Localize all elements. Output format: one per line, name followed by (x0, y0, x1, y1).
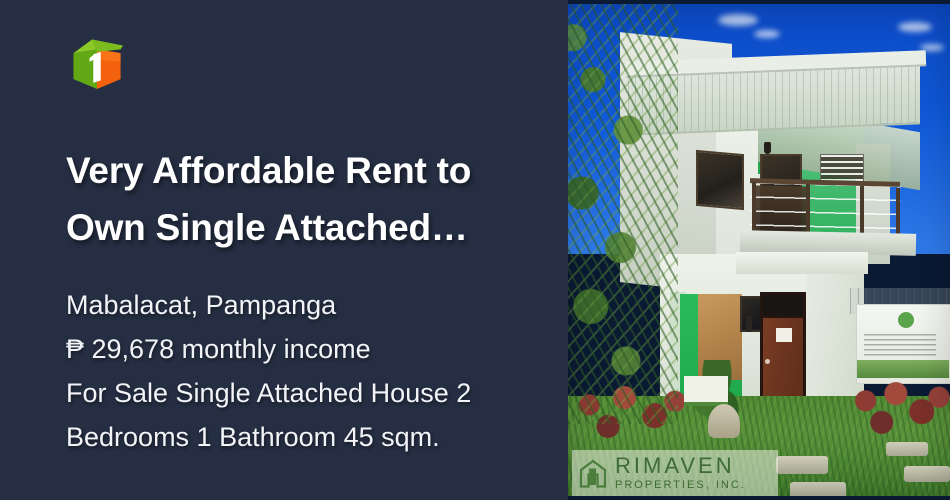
cloud-icon (898, 22, 932, 32)
door-notice (776, 328, 792, 342)
cloud-icon (718, 14, 758, 26)
garden-urn (708, 404, 740, 438)
listing-description-line-1: For Sale Single Attached House 2 (66, 371, 538, 415)
stepping-stone (904, 466, 950, 482)
house-logo-icon[interactable] (66, 32, 128, 94)
stepping-stone (886, 442, 928, 456)
listing-info-panel: Very Affordable Rent to Own Single Attac… (0, 0, 568, 500)
bamboo-leaves (568, 4, 678, 424)
yard-sign (684, 376, 728, 406)
listing-price: ₱ 29,678 monthly income (66, 327, 538, 371)
upper-window-left (696, 150, 744, 210)
listing-meta: Mabalacat, Pampanga ₱ 29,678 monthly inc… (66, 283, 538, 459)
listing-description-line-2: Bedrooms 1 Bathroom 45 sqm. (66, 415, 538, 459)
door-transom (760, 292, 806, 318)
photo-watermark: RIMAVEN PROPERTIES, INC. (572, 450, 778, 496)
porch-lamp-icon (746, 316, 752, 332)
watermark-text: RIMAVEN PROPERTIES, INC. (615, 455, 746, 491)
garden-bed-right (844, 372, 950, 444)
billboard-text-lines (864, 334, 936, 358)
exterior-lamp-icon (764, 142, 771, 154)
house-watermark-icon (578, 458, 608, 488)
door-knob-icon (765, 359, 770, 364)
page-title: Very Affordable Rent to Own Single Attac… (66, 142, 536, 256)
door-lintel (736, 252, 868, 274)
listing-location: Mabalacat, Pampanga (66, 283, 538, 327)
stepping-stone (790, 482, 846, 496)
property-photo[interactable]: RIMAVEN PROPERTIES, INC. (568, 0, 950, 500)
billboard-tree-icon (898, 312, 914, 328)
property-listing-card: Very Affordable Rent to Own Single Attac… (0, 0, 950, 500)
property-photo-image: RIMAVEN PROPERTIES, INC. (568, 4, 950, 496)
stepping-stone (776, 456, 828, 474)
cloud-icon (754, 30, 780, 38)
watermark-brand-name: RIMAVEN (615, 455, 746, 477)
watermark-brand-subtitle: PROPERTIES, INC. (615, 480, 746, 491)
